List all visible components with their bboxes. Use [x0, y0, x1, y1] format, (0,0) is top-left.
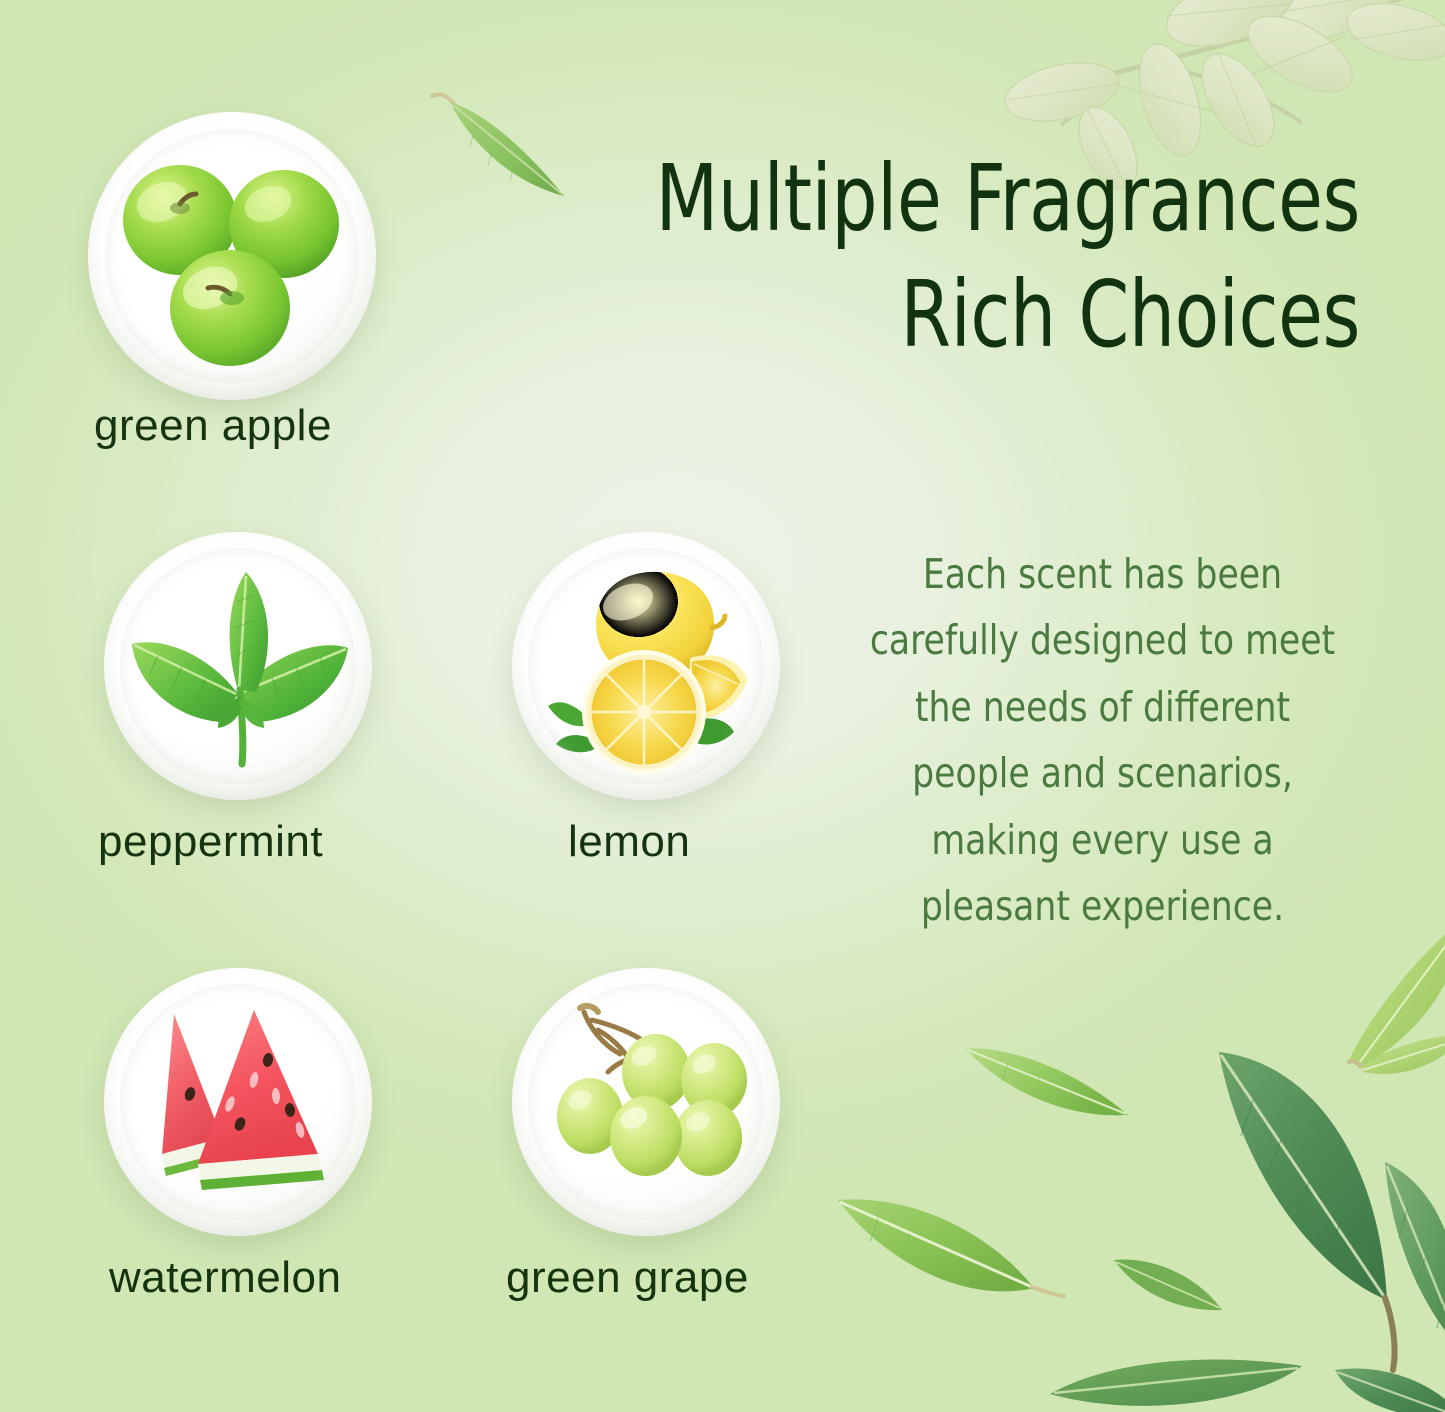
green-apple-plate-icon: [88, 112, 376, 400]
watermelon-plate-icon: [104, 968, 372, 1236]
leaf-bottom-edge-icon: [1040, 1348, 1340, 1412]
fragrance-label-watermelon: watermelon: [109, 1256, 341, 1300]
title-line-1: Multiple Fragrances: [550, 152, 1360, 246]
leaf-bottom-left-small-icon: [1108, 1250, 1228, 1320]
fragrance-item-watermelon[interactable]: watermelon: [104, 968, 372, 1236]
fragrance-item-lemon[interactable]: lemon: [512, 532, 780, 800]
plate-green-grape: [512, 968, 780, 1236]
peppermint-plate-icon: [104, 532, 372, 800]
fragrance-label-green-apple: green apple: [94, 404, 332, 448]
green-grape-plate-icon: [512, 968, 780, 1236]
fragrance-label-lemon: lemon: [568, 820, 690, 864]
poster-canvas: Multiple Fragrances Rich Choices Each sc…: [0, 0, 1445, 1412]
leaf-bottom-center-icon: [826, 1192, 1076, 1342]
fragrance-label-peppermint: peppermint: [98, 820, 323, 864]
lemon-plate-icon: [512, 532, 780, 800]
fragrance-item-green-grape[interactable]: green grape: [512, 968, 780, 1236]
plate-lemon: [512, 532, 780, 800]
plate-watermelon: [104, 968, 372, 1236]
plate-green-apple: [88, 112, 376, 400]
fragrance-item-green-apple[interactable]: green apple: [88, 112, 376, 400]
fragrance-item-peppermint[interactable]: peppermint: [104, 532, 372, 800]
plate-peppermint: [104, 532, 372, 800]
title-line-2: Rich Choices: [550, 268, 1360, 362]
fragrance-label-green-grape: green grape: [506, 1256, 749, 1300]
leaf-cluster-bottom-right-icon: [1135, 900, 1445, 1412]
leaf-right-mid-icon: [960, 1035, 1140, 1125]
description-paragraph: Each scent has been carefully designed t…: [870, 541, 1335, 939]
page-title: Multiple Fragrances Rich Choices: [550, 152, 1360, 362]
